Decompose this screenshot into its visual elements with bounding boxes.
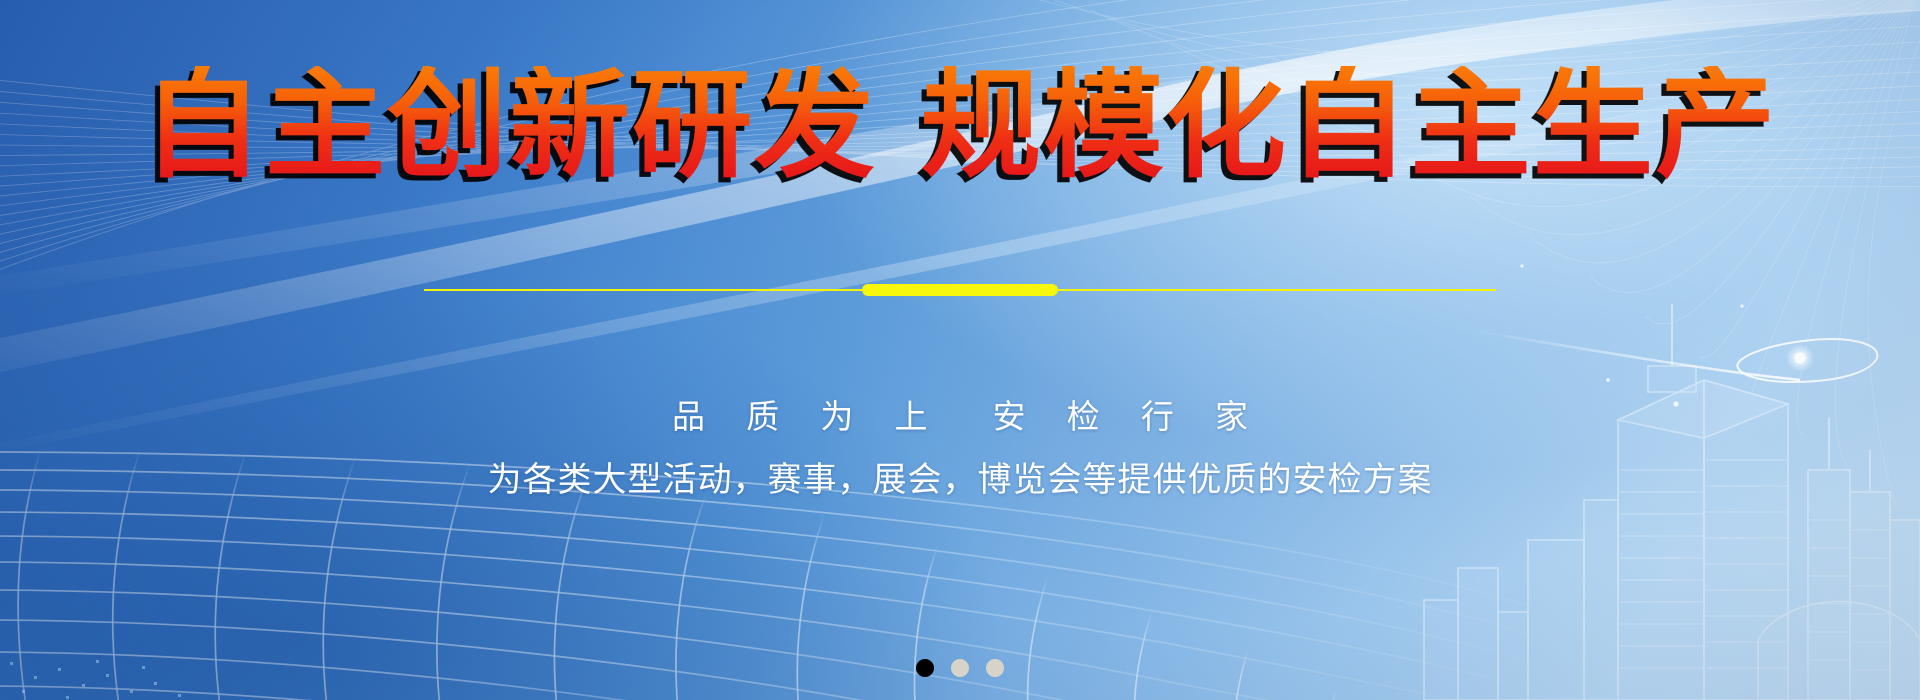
- page-title: 自主创新研发 规模化自主生产: [0, 66, 1920, 184]
- carousel-dot-3[interactable]: [986, 659, 1004, 677]
- carousel-pagination[interactable]: [916, 659, 1004, 677]
- title-divider: [424, 283, 1496, 297]
- hero-banner-slide: 自主创新研发 规模化自主生产 品 质 为 上 安 检 行 家 为各类大型活动，赛…: [0, 0, 1920, 700]
- subtitle-text: 为各类大型活动，赛事，展会，博览会等提供优质的安检方案: [0, 452, 1920, 501]
- carousel-dot-2[interactable]: [951, 659, 969, 677]
- banner-content: 自主创新研发 规模化自主生产 品 质 为 上 安 检 行 家 为各类大型活动，赛…: [0, 0, 1920, 700]
- carousel-dot-1[interactable]: [916, 659, 934, 677]
- divider-accent-bar: [862, 284, 1058, 296]
- tagline-text: 品 质 为 上 安 检 行 家: [0, 390, 1920, 438]
